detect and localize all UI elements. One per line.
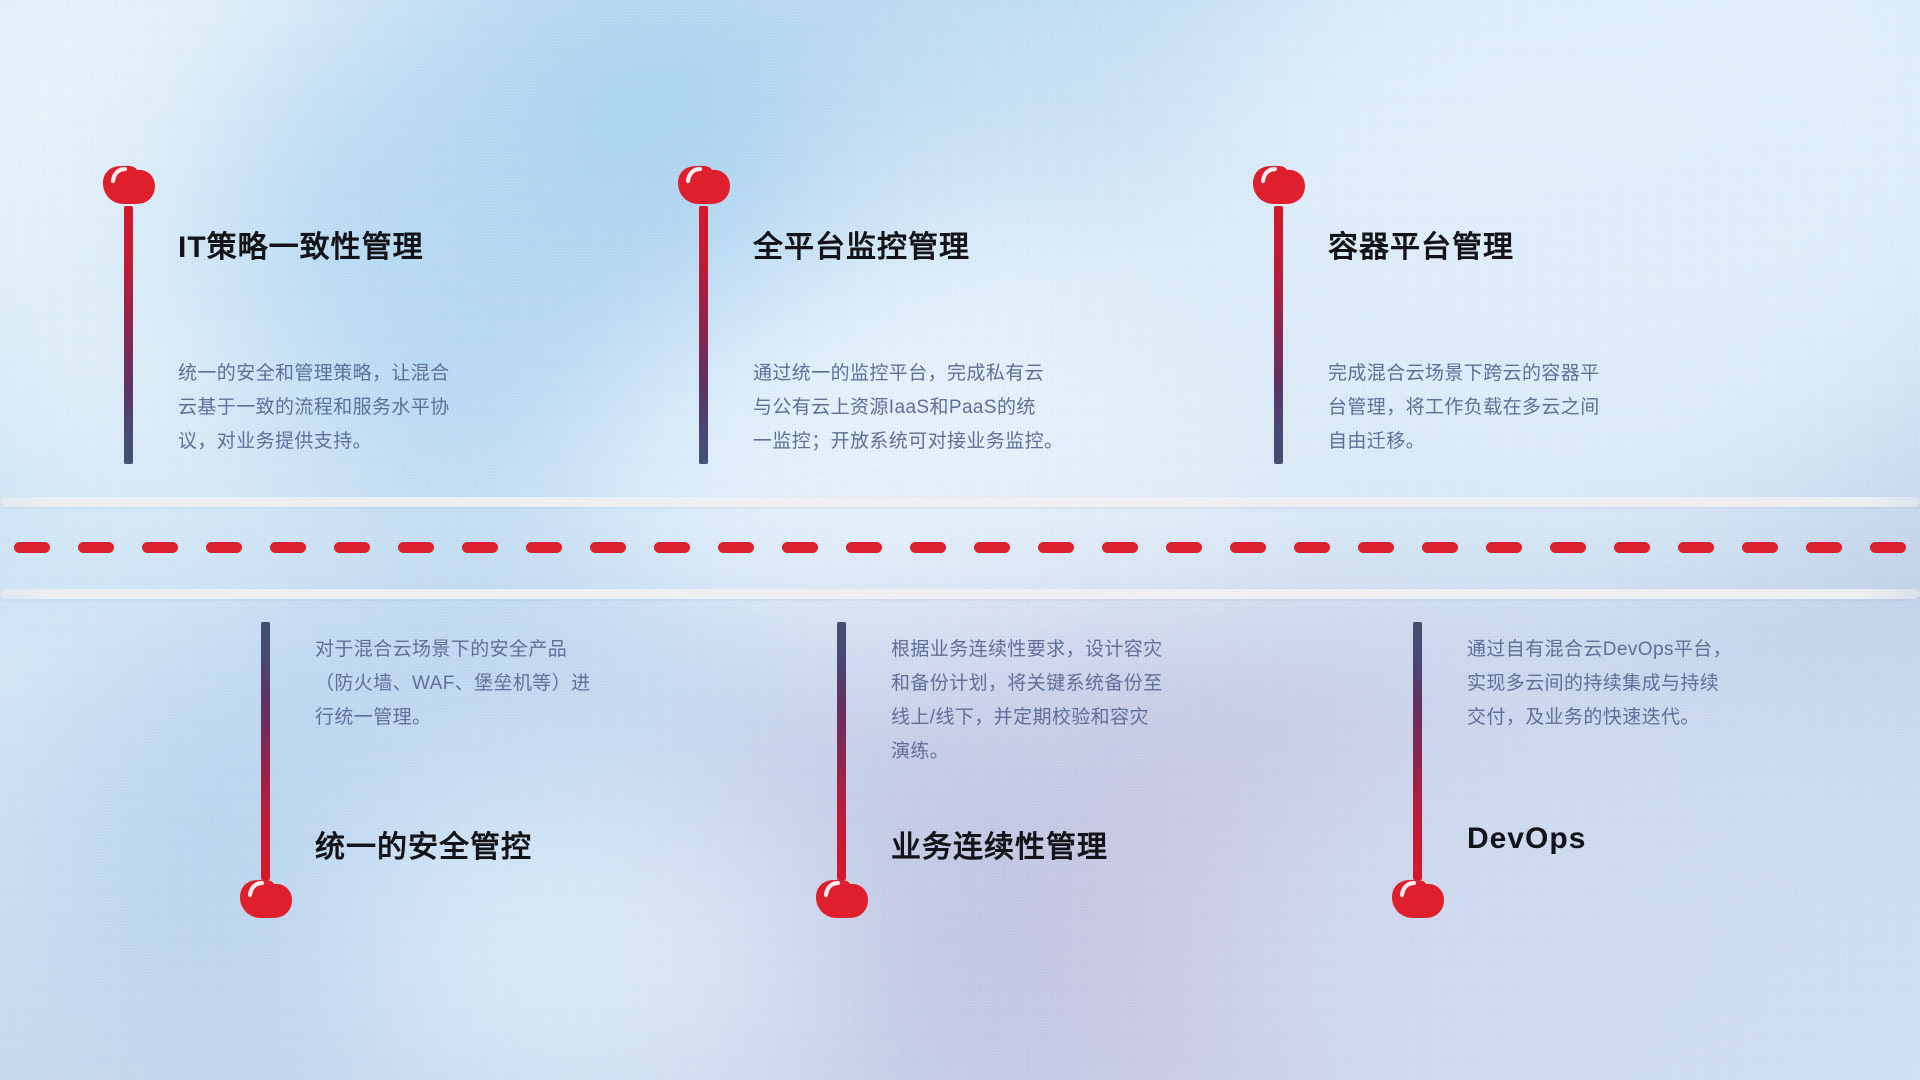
road-dash bbox=[462, 542, 498, 553]
road-dash bbox=[1870, 542, 1906, 553]
road-dash bbox=[270, 542, 306, 553]
road-center-dashed-line bbox=[0, 541, 1920, 553]
road-dash bbox=[974, 542, 1010, 553]
card-title: 统一的安全管控 bbox=[315, 822, 532, 866]
road-dash bbox=[526, 542, 562, 553]
road-dash bbox=[1550, 542, 1586, 553]
card-body-line: 实现多云间的持续集成与持续 bbox=[1467, 667, 1817, 701]
card-body: 通过统一的监控平台，完成私有云 与公有云上资源IaaS和PaaS的统 一监控；开… bbox=[753, 357, 1103, 459]
card-title: 全平台监控管理 bbox=[753, 222, 970, 266]
card-body: 完成混合云场景下跨云的容器平 台管理，将工作负载在多云之间 自由迁移。 bbox=[1328, 357, 1678, 459]
road-dash bbox=[782, 542, 818, 553]
cloud-icon bbox=[100, 162, 158, 208]
stem-line bbox=[124, 206, 133, 464]
card-body-line: 通过统一的监控平台，完成私有云 bbox=[753, 357, 1103, 391]
road-dash bbox=[910, 542, 946, 553]
card-body-line: 自由迁移。 bbox=[1328, 425, 1678, 459]
road-dash bbox=[1102, 542, 1138, 553]
road-dash bbox=[206, 542, 242, 553]
card-body-line: 通过自有混合云DevOps平台， bbox=[1467, 633, 1817, 667]
road-dash bbox=[718, 542, 754, 553]
card-body-line: 和备份计划，将关键系统备份至 bbox=[891, 667, 1241, 701]
card-body: 对于混合云场景下的安全产品 （防火墙、WAF、堡垒机等）进 行统一管理。 bbox=[315, 633, 665, 735]
card-body-line: 云基于一致的流程和服务水平协 bbox=[178, 391, 528, 425]
card-title: IT策略一致性管理 bbox=[178, 222, 424, 266]
road-dash bbox=[1742, 542, 1778, 553]
stem-line bbox=[837, 622, 846, 880]
card-body-line: 完成混合云场景下跨云的容器平 bbox=[1328, 357, 1678, 391]
card-body-line: 交付，及业务的快速迭代。 bbox=[1467, 701, 1817, 735]
road-edge-line-bottom bbox=[0, 589, 1920, 599]
road-dash bbox=[334, 542, 370, 553]
card-title: 容器平台管理 bbox=[1328, 222, 1514, 266]
cloud-icon bbox=[1389, 876, 1447, 922]
card-body-line: 根据业务连续性要求，设计容灾 bbox=[891, 633, 1241, 667]
card-body-line: 线上/线下，并定期校验和容灾 bbox=[891, 701, 1241, 735]
road-dash bbox=[78, 542, 114, 553]
road-dash bbox=[1294, 542, 1330, 553]
road-dash bbox=[1038, 542, 1074, 553]
card-body: 根据业务连续性要求，设计容灾 和备份计划，将关键系统备份至 线上/线下，并定期校… bbox=[891, 633, 1241, 769]
card-body: 通过自有混合云DevOps平台， 实现多云间的持续集成与持续 交付，及业务的快速… bbox=[1467, 633, 1817, 735]
card-body-line: 演练。 bbox=[891, 735, 1241, 769]
cloud-icon bbox=[675, 162, 733, 208]
road-dash bbox=[1166, 542, 1202, 553]
road-dash bbox=[1678, 542, 1714, 553]
road-dash bbox=[1358, 542, 1394, 553]
card-body-line: 台管理，将工作负载在多云之间 bbox=[1328, 391, 1678, 425]
road-dash bbox=[398, 542, 434, 553]
road-dash bbox=[590, 542, 626, 553]
card-body-line: 对于混合云场景下的安全产品 bbox=[315, 633, 665, 667]
card-title: 业务连续性管理 bbox=[891, 822, 1108, 866]
card-body-line: （防火墙、WAF、堡垒机等）进 bbox=[315, 667, 665, 701]
card-body-line: 议，对业务提供支持。 bbox=[178, 425, 528, 459]
road-dash bbox=[1486, 542, 1522, 553]
road-dash bbox=[846, 542, 882, 553]
road-dash bbox=[654, 542, 690, 553]
stem-line bbox=[1413, 622, 1422, 880]
card-body-line: 与公有云上资源IaaS和PaaS的统 bbox=[753, 391, 1103, 425]
stem-line bbox=[1274, 206, 1283, 464]
road-dash bbox=[1806, 542, 1842, 553]
road-dash bbox=[14, 542, 50, 553]
road-dash bbox=[1422, 542, 1458, 553]
stem-line bbox=[261, 622, 270, 880]
card-body: 统一的安全和管理策略，让混合 云基于一致的流程和服务水平协 议，对业务提供支持。 bbox=[178, 357, 528, 459]
infographic-canvas: IT策略一致性管理 统一的安全和管理策略，让混合 云基于一致的流程和服务水平协 … bbox=[0, 0, 1920, 1080]
card-body-line: 统一的安全和管理策略，让混合 bbox=[178, 357, 528, 391]
cloud-icon bbox=[237, 876, 295, 922]
cloud-icon bbox=[813, 876, 871, 922]
card-body-line: 一监控；开放系统可对接业务监控。 bbox=[753, 425, 1103, 459]
cloud-icon bbox=[1250, 162, 1308, 208]
road-dash bbox=[1230, 542, 1266, 553]
stem-line bbox=[699, 206, 708, 464]
card-body-line: 行统一管理。 bbox=[315, 701, 665, 735]
road-dash bbox=[1614, 542, 1650, 553]
road-edge-line-top bbox=[0, 497, 1920, 507]
card-title: DevOps bbox=[1467, 822, 1586, 856]
road-dash bbox=[142, 542, 178, 553]
